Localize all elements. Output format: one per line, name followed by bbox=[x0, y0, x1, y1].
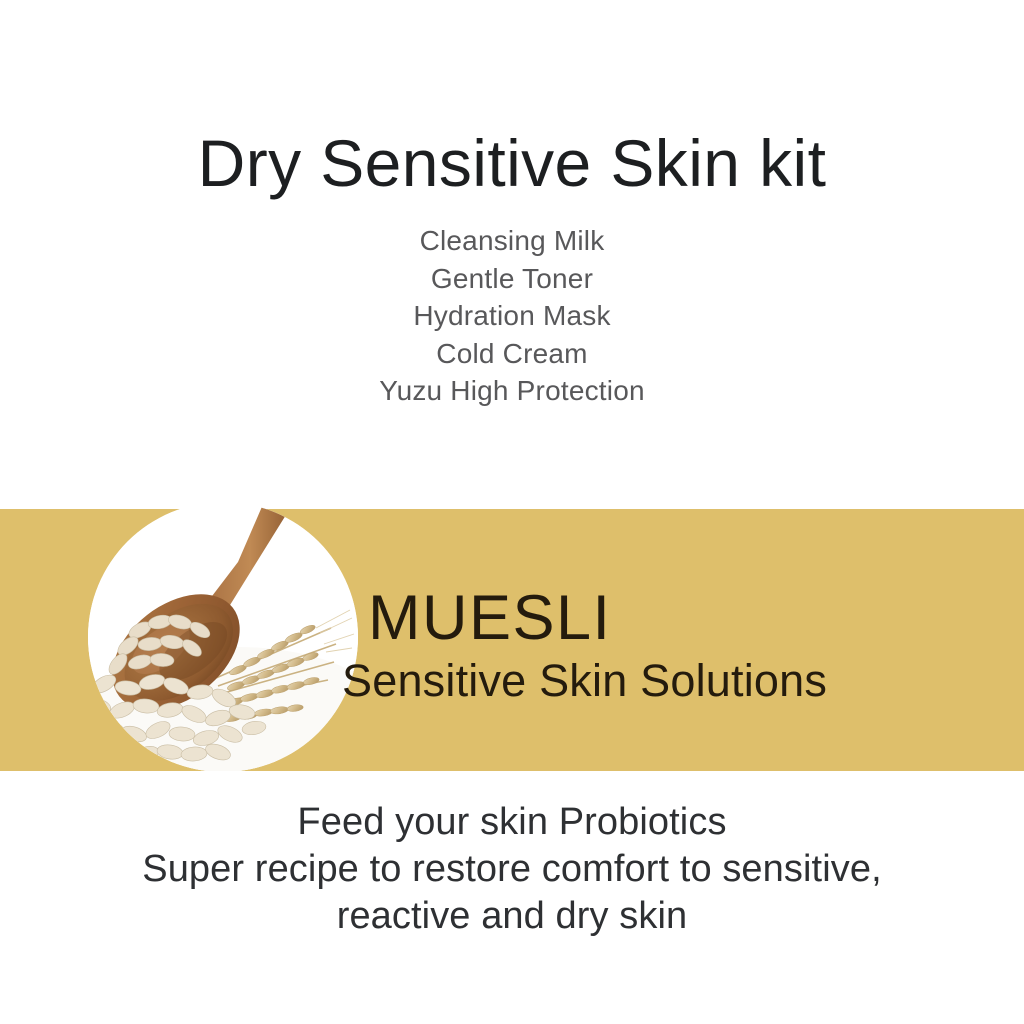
kit-header-section: Dry Sensitive Skin kit Cleansing Milk Ge… bbox=[0, 0, 1024, 509]
promo-line-2: Super recipe to restore comfort to sensi… bbox=[0, 846, 1024, 893]
promo-section: Feed your skin Probiotics Super recipe t… bbox=[0, 771, 1024, 1024]
list-item-cold-cream: Cold Cream bbox=[0, 335, 1024, 373]
list-item-cleansing-milk: Cleansing Milk bbox=[0, 222, 1024, 260]
page-title: Dry Sensitive Skin kit bbox=[0, 126, 1024, 200]
list-item-yuzu-high-protection: Yuzu High Protection bbox=[0, 372, 1024, 410]
list-item-hydration-mask: Hydration Mask bbox=[0, 297, 1024, 335]
product-kit-page: Dry Sensitive Skin kit Cleansing Milk Ge… bbox=[0, 0, 1024, 1024]
product-list: Cleansing Milk Gentle Toner Hydration Ma… bbox=[0, 222, 1024, 410]
promo-line-3: reactive and dry skin bbox=[0, 893, 1024, 940]
oats-spoon-illustration bbox=[88, 502, 358, 772]
promo-text: Feed your skin Probiotics Super recipe t… bbox=[0, 799, 1024, 940]
brand-name: MUESLI bbox=[368, 582, 1008, 654]
oats-spoon-photo bbox=[88, 502, 358, 772]
brand-tagline: Sensitive Skin Solutions bbox=[342, 654, 1008, 708]
brand-lockup: MUESLI Sensitive Skin Solutions bbox=[368, 582, 1008, 708]
promo-line-1: Feed your skin Probiotics bbox=[0, 799, 1024, 846]
list-item-gentle-toner: Gentle Toner bbox=[0, 260, 1024, 298]
